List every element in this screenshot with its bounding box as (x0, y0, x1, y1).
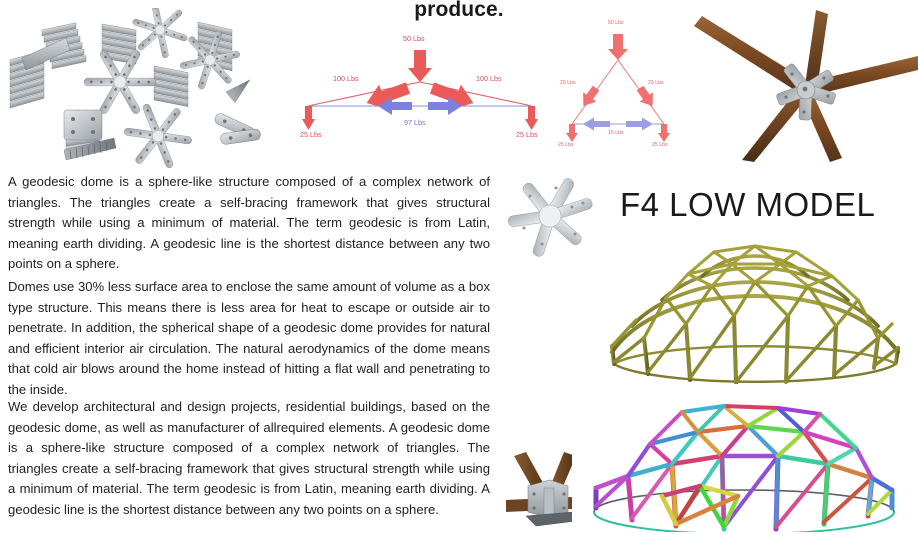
triangle-compression-left-label: 29 Lbs (560, 80, 576, 86)
section-heading-f4-low-model: F4 LOW MODEL (620, 186, 900, 224)
paragraph-company: We develop architectural and design proj… (8, 397, 490, 521)
steel-star-hub-photo (496, 168, 604, 264)
truss-compression-right-label: 100 Lbs (476, 74, 502, 83)
colorful-geodesic-dome-render (572, 396, 916, 532)
truss-compression-left-label: 100 Lbs (333, 74, 359, 83)
steel-connector-plates-photo (2, 8, 262, 170)
triangle-load-label: 50 Lbs (608, 20, 624, 26)
triangle-tension-label: 15 Lbs (608, 130, 624, 136)
truss-reaction-right-label: 25 Lbs (516, 130, 538, 139)
paragraph-geodesic-definition: A geodesic dome is a sphere-like structu… (8, 172, 490, 275)
truss-tension-label: 97 Lbs (404, 118, 426, 127)
triangle-reaction-left-label: 25 Lbs (558, 142, 574, 148)
paragraph-efficiency: Domes use 30% less surface area to enclo… (8, 277, 490, 401)
truss-reaction-left-label: 25 Lbs (300, 130, 322, 139)
olive-geodesic-dome-render (596, 242, 914, 384)
triangle-reaction-right-label: 25 Lbs (652, 142, 668, 148)
wooden-struts-steel-hub-photo (694, 8, 918, 162)
truss-force-diagram: 50 Lbs 100 Lbs 100 Lbs 97 Lbs 25 Lbs 25 … (300, 26, 540, 150)
triangle-compression-right-label: 29 Lbs (648, 80, 664, 86)
triangle-force-diagram: 50 Lbs 29 Lbs 29 Lbs 15 Lbs 25 Lbs 25 Lb… (556, 12, 680, 154)
truss-load-label: 50 Lbs (403, 34, 425, 43)
document-page: produce. (0, 0, 918, 535)
